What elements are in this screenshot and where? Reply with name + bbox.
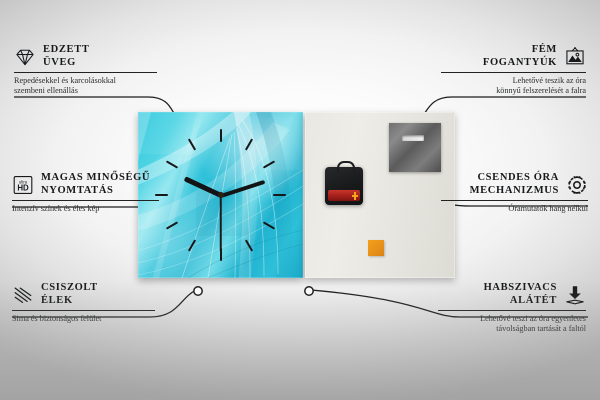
feature-callout-metal-handles: FÉM FOGANTYÚK Lehetővé teszik az óra kön…	[441, 44, 586, 96]
hand-hub	[218, 192, 224, 198]
battery-plus-icon	[352, 192, 358, 200]
foam-spacer-icon	[564, 284, 586, 306]
feature-description: Lehetővé teszik az óra könnyű felszerelé…	[441, 76, 586, 96]
feature-callout-hd-print: ultra HD MAGAS MINŐSÉGŰ NYOMTATÁS Intenz…	[12, 172, 159, 214]
feature-description: Óramutatók hang nélkül	[441, 204, 588, 214]
infographic-canvas: EDZETT ÜVEG Repedésekkel és karcolásokka…	[0, 0, 600, 400]
connector-dot-right-3	[305, 287, 313, 295]
product-panels	[138, 112, 455, 278]
feature-title: FÉM FOGANTYÚK	[483, 44, 557, 69]
feature-title: EDZETT ÜVEG	[43, 44, 90, 69]
feature-description: Intenzív színek és éles kép	[12, 204, 159, 214]
divider-rule	[12, 310, 155, 311]
tick-mark-12	[220, 129, 222, 142]
divider-rule	[14, 72, 157, 73]
hanger-slot	[402, 135, 424, 141]
connector-dot-left-3	[194, 287, 202, 295]
feature-description: Sima és biztonságos felület	[12, 314, 155, 324]
metal-hanger-plate	[389, 123, 441, 172]
clock-front-panel	[138, 112, 303, 278]
feature-description: Repedésekkel és karcolásokkal szembeni e…	[14, 76, 157, 96]
feature-title: MAGAS MINŐSÉGŰ NYOMTATÁS	[41, 172, 150, 197]
feature-title: CSENDES ÓRA MECHANIZMUS	[470, 172, 559, 197]
mechanism-hook	[337, 161, 355, 172]
clock-mechanism	[325, 167, 363, 205]
diamond-icon	[14, 46, 36, 68]
gear-icon	[566, 174, 588, 196]
feature-callout-tempered-glass: EDZETT ÜVEG Repedésekkel és karcolásokka…	[14, 44, 157, 96]
feature-callout-foam-spacer: HABSZIVACS ALÁTÉT Lehetővé teszi az óra …	[438, 282, 586, 334]
ultra-hd-icon-bottom: HD	[17, 183, 29, 192]
polished-edges-icon	[12, 284, 34, 306]
second-hand	[220, 196, 222, 252]
hanging-picture-icon	[564, 46, 586, 68]
tick-mark-3	[273, 194, 286, 196]
feature-title: CSISZOLT ÉLEK	[41, 282, 98, 307]
feature-description: Lehetővé teszi az óra egyenletes távolsá…	[438, 314, 586, 334]
feature-title: HABSZIVACS ALÁTÉT	[484, 282, 557, 307]
clock-back-panel	[305, 112, 455, 278]
divider-rule	[12, 200, 159, 201]
foam-pad	[368, 240, 384, 256]
divider-rule	[438, 310, 586, 311]
battery	[328, 190, 360, 201]
divider-rule	[441, 200, 588, 201]
ultra-hd-icon: ultra HD	[12, 174, 34, 196]
feature-callout-polished-edges: CSISZOLT ÉLEK Sima és biztonságos felüle…	[12, 282, 155, 324]
feature-callout-quiet-mechanism: CSENDES ÓRA MECHANIZMUS Óramutatók hang …	[441, 172, 588, 214]
divider-rule	[441, 72, 586, 73]
